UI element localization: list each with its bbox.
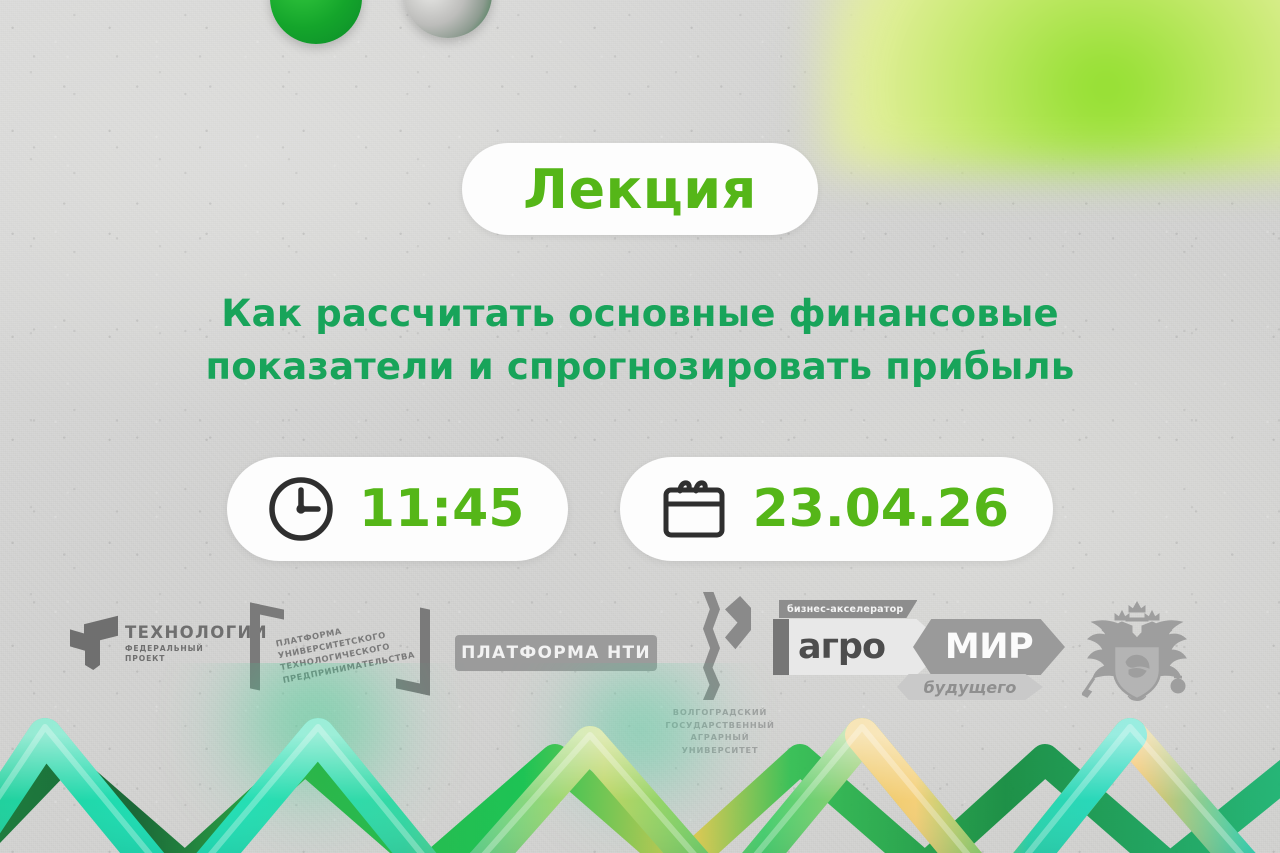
event-info-row: 11:45 23.04.26 xyxy=(0,457,1280,561)
page-title: Как рассчитать основные финансовые показ… xyxy=(0,288,1280,393)
logo-agromir-tag: бизнес-акселератор xyxy=(779,600,917,618)
lecture-announcement-poster: Лекция Как рассчитать основные финансовы… xyxy=(0,0,1280,853)
logo-agromir-word1: агро xyxy=(798,627,885,667)
zigzag-decoration xyxy=(0,663,1280,853)
logo-tech-sub-line1: ФЕДЕРАЛЬНЫЙ xyxy=(125,644,268,654)
event-date-value: 23.04.26 xyxy=(752,479,1009,539)
logo-agromir-word2: МИР xyxy=(945,627,1033,667)
lecture-badge-label: Лекция xyxy=(523,158,757,221)
zigzag-tubes xyxy=(0,663,1280,853)
lecture-badge: Лекция xyxy=(462,143,818,235)
logo-tech-name: ТЕХНОЛОГИИ xyxy=(125,624,268,641)
yellow-green-glow-blob xyxy=(820,0,1280,170)
event-time-value: 11:45 xyxy=(359,479,525,539)
event-date-pill: 23.04.26 xyxy=(620,457,1053,561)
calendar-icon xyxy=(658,473,730,545)
clock-icon xyxy=(265,473,337,545)
logo-nti-label: ПЛАТФОРМА НТИ xyxy=(461,643,651,663)
event-time-pill: 11:45 xyxy=(227,457,569,561)
